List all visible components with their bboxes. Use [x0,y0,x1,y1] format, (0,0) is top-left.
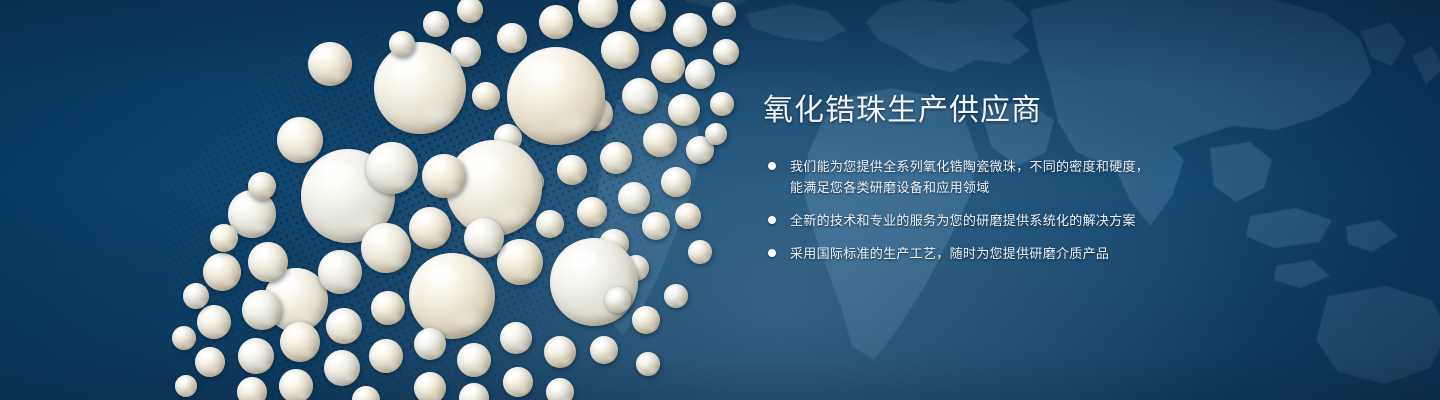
bead [636,352,660,376]
bead [578,0,618,28]
bead [664,284,688,308]
bead [422,154,466,198]
bead [497,23,527,53]
bead [643,123,677,157]
bead [710,92,734,116]
bead [632,306,660,334]
bead [414,372,446,400]
bead [409,207,451,249]
bead [371,291,405,325]
bead [577,197,607,227]
bead [550,238,638,326]
bead [318,250,362,294]
bead [457,0,483,23]
bead [195,347,225,377]
bead [389,31,415,57]
bead [712,2,736,26]
bead [237,377,267,400]
bead [685,59,715,89]
bead [248,242,288,282]
page-title: 氧化锆珠生产供应商 [763,96,1233,126]
bead [590,336,618,364]
zirconia-bead-cluster-icon [0,0,760,400]
bead [374,42,466,134]
bead [688,240,712,264]
bullet-text: 我们能为您提供全系列氧化锆陶瓷微珠，不同的密度和硬度， 能满足您各类研磨设备和应… [790,160,1233,199]
bead [423,11,449,37]
bead [713,39,739,65]
bead [183,283,209,309]
product-hero-banner: 氧化锆珠生产供应商 我们能为您提供全系列氧化锆陶瓷微珠，不同的密度和硬度， 能满… [0,0,1440,400]
bead [238,338,274,374]
bead [279,369,313,400]
bead [472,82,500,110]
bullet-line-1: 全新的技术和专业的服务为您的研磨提供系统化的解决方案 [790,214,1136,229]
bead [464,218,504,258]
bead [536,210,564,238]
bullet-text: 采用国际标准的生产工艺，随时为您提供研磨介质产品 [790,247,1109,262]
bead [326,308,362,344]
bead [544,336,576,368]
hero-copy: 氧化锆珠生产供应商 我们能为您提供全系列氧化锆陶瓷微珠，不同的密度和硬度， 能满… [763,96,1233,276]
bead [324,350,360,386]
bead [642,212,670,240]
bead [203,253,241,291]
bead [308,42,352,86]
bead [601,31,639,69]
bead [457,343,491,377]
bead [414,328,446,360]
bead [507,47,605,145]
bead [500,322,532,354]
bead [352,386,380,400]
bead [605,287,631,313]
bead [197,305,231,339]
list-item: 采用国际标准的生产工艺，随时为您提供研磨介质产品 [763,243,1233,265]
bead [503,367,533,397]
bead [705,123,727,145]
bullet-dot-icon [768,216,776,224]
bead [366,142,418,194]
bead [618,182,650,214]
bead [557,155,587,185]
bead [361,223,411,273]
bead [459,383,489,400]
bead [175,375,197,397]
bead [497,239,543,285]
bead [242,290,282,330]
bullet-dot-icon [768,162,776,170]
bead [622,78,658,114]
bead [546,378,574,400]
bead [369,339,403,373]
bead [668,94,700,126]
bead [675,203,701,229]
bead [280,322,320,362]
bead [661,167,691,197]
bead [600,142,632,174]
bullet-line-2: 能满足您各类研磨设备和应用领域 [790,178,1233,199]
list-item: 全新的技术和专业的服务为您的研磨提供系统化的解决方案 [763,210,1233,232]
bead [248,172,276,200]
bullet-text: 全新的技术和专业的服务为您的研磨提供系统化的解决方案 [790,214,1136,229]
bead [673,13,707,47]
bead [651,49,685,83]
bullet-line-1: 我们能为您提供全系列氧化锆陶瓷微珠，不同的密度和硬度， [790,160,1149,175]
list-item: 我们能为您提供全系列氧化锆陶瓷微珠，不同的密度和硬度， 能满足您各类研磨设备和应… [763,156,1233,199]
bead [210,224,238,252]
bead [539,5,573,39]
bead [277,117,323,163]
bullet-dot-icon [768,249,776,257]
bead [409,253,495,339]
bullet-line-1: 采用国际标准的生产工艺，随时为您提供研磨介质产品 [790,247,1109,262]
bead [630,0,666,32]
bead [172,326,196,350]
